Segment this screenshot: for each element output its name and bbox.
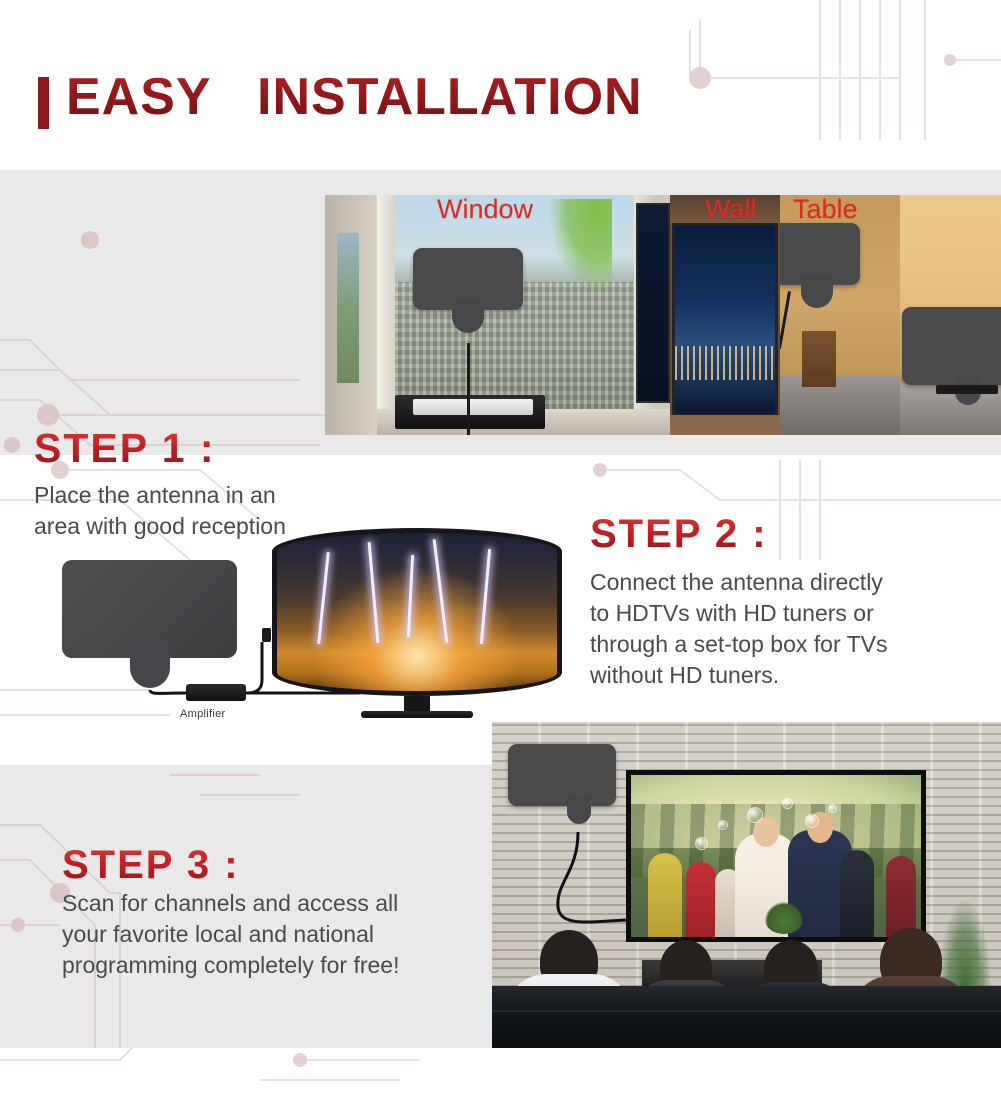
page-title: EASY INSTALLATION: [66, 67, 643, 127]
amplifier-label: Amplifier: [180, 708, 226, 720]
step-2-heading: STEP 2 :: [590, 512, 990, 557]
label-wall: Wall: [705, 194, 757, 225]
infographic-page: EASY INSTALLATION STEP 1 : Place: [0, 0, 1001, 1100]
step-1-photo-strip: [325, 195, 1001, 435]
step-3-heading: STEP 3 :: [62, 843, 482, 888]
sofa: [492, 986, 1001, 1048]
title-accent-bar: [38, 77, 49, 129]
antenna-on-wall: [780, 223, 860, 285]
step-2-text-block: STEP 2 : Connect the antenna directly to…: [590, 512, 990, 691]
label-table: Table: [793, 194, 858, 225]
wall-mounted-tv: [626, 770, 926, 942]
antenna-on-window: [413, 248, 523, 310]
photo-window-placement: [325, 195, 670, 435]
step-3-photo-living-room: [492, 722, 1001, 1048]
step-3-text-block: STEP 3 : Scan for channels and access al…: [62, 843, 482, 981]
step-1-text-block: STEP 1 : Place the antenna in an area wi…: [34, 425, 334, 542]
photo-table-placement: [900, 195, 1001, 435]
amplifier-box: [186, 684, 246, 701]
label-window: Window: [437, 194, 533, 225]
tv-screen-storm: [272, 528, 562, 696]
usb-plug-icon: [262, 628, 271, 642]
page-header: EASY INSTALLATION: [0, 55, 1001, 160]
antenna-illustration: [62, 560, 237, 658]
photo-wall-placement: [780, 195, 900, 435]
step-1-heading: STEP 1 :: [34, 425, 334, 472]
antenna-on-table: [902, 307, 1001, 385]
step-3-body: Scan for channels and access all your fa…: [62, 888, 482, 981]
photo-tv-beside-window: [670, 195, 780, 435]
step-2-body: Connect the antenna directly to HDTVs wi…: [590, 567, 990, 691]
curved-tv-illustration: [272, 528, 562, 696]
